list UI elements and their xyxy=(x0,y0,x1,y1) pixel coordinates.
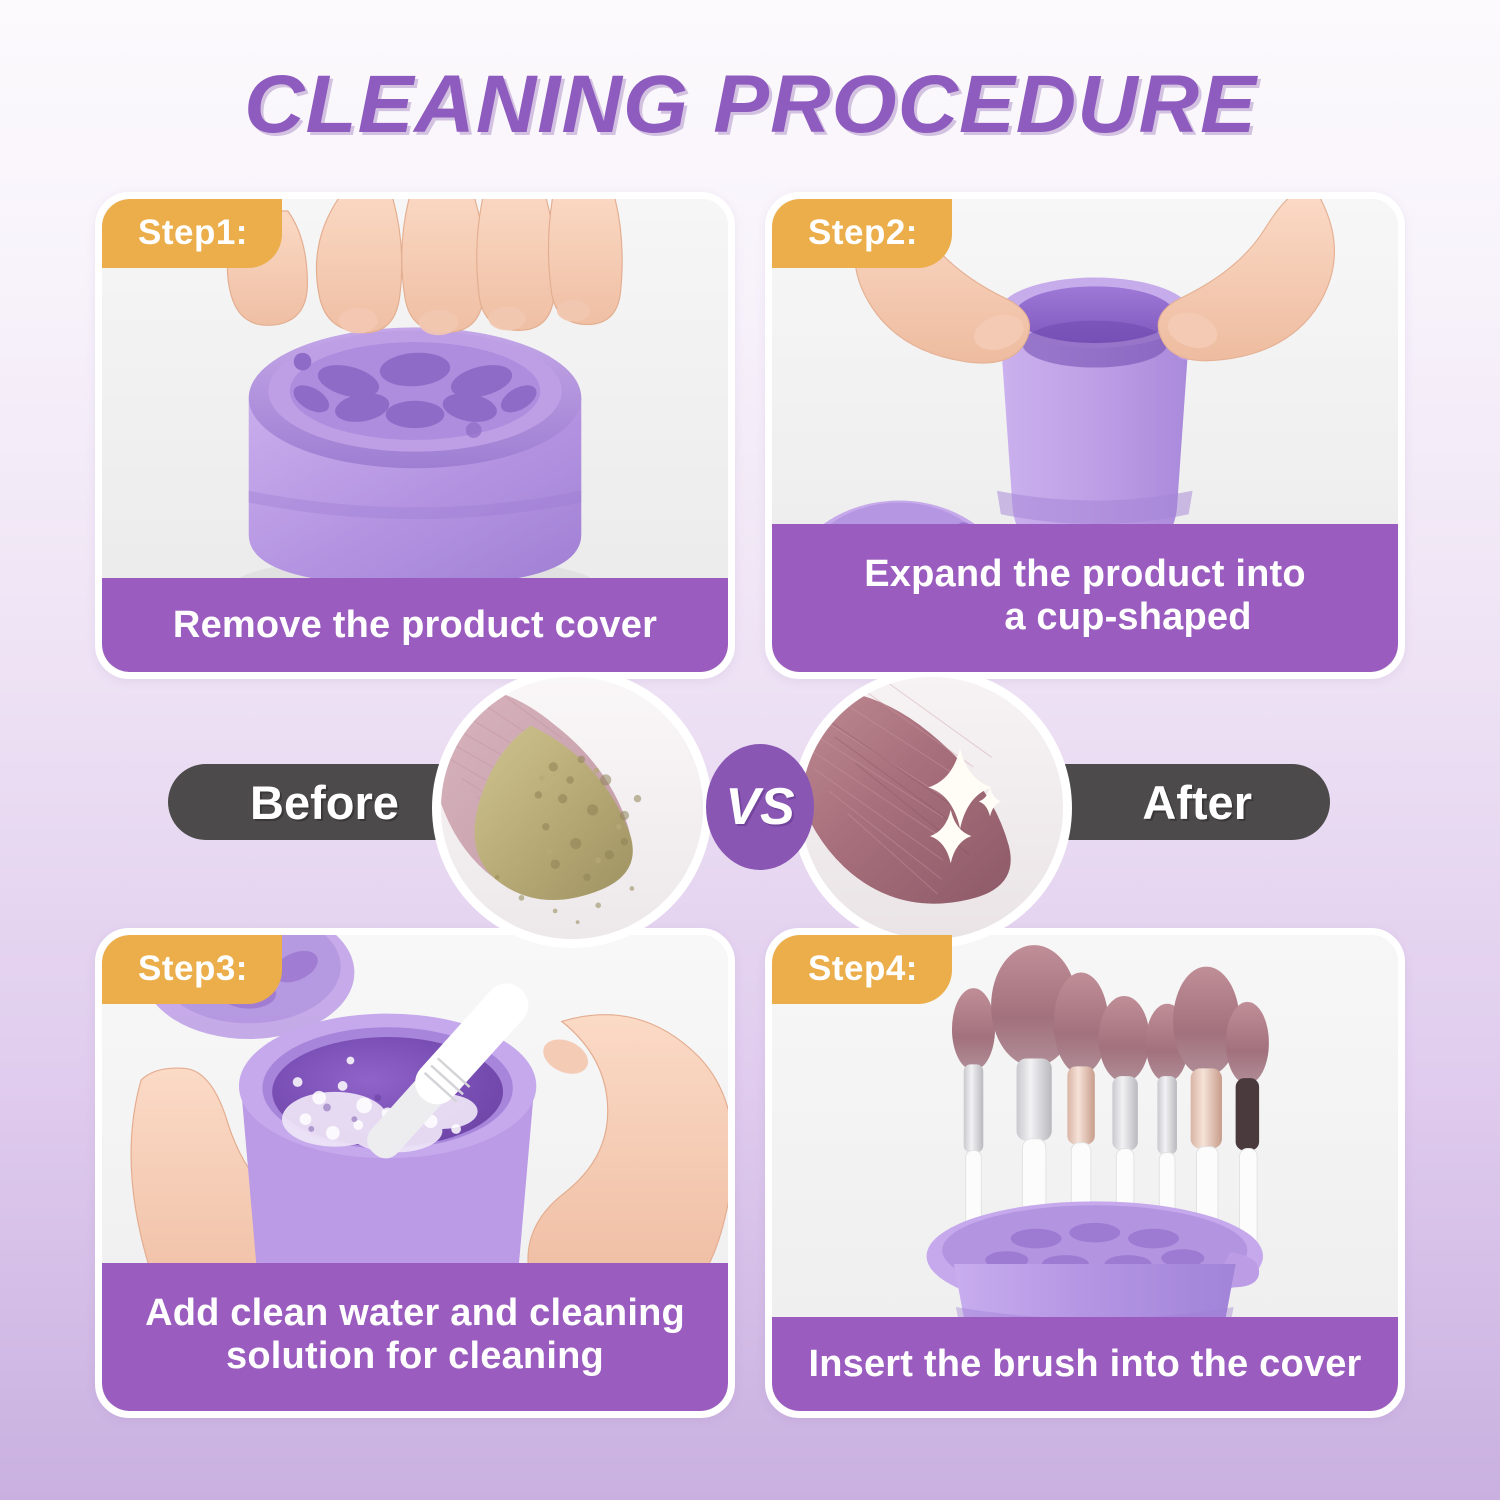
step-3-badge: Step3: xyxy=(102,935,282,1004)
after-illustration xyxy=(801,677,1063,939)
step-4-badge: Step4: xyxy=(772,935,952,1004)
page-title-wrapper: CLEANING PROCEDURE xyxy=(0,58,1500,152)
step-2-badge: Step2: xyxy=(772,199,952,268)
step-4-caption: Insert the brush into the cover xyxy=(772,1317,1398,1411)
page-title: CLEANING PROCEDURE xyxy=(244,58,1257,152)
before-label: Before xyxy=(250,775,399,830)
step-2-caption-line1: Expand the product into xyxy=(864,553,1306,595)
step-2-caption: Expand the product into a cup-shaped xyxy=(772,524,1398,672)
step-card-3: Step3: Add clean water and cleaning solu… xyxy=(95,928,735,1418)
step-1-badge: Step1: xyxy=(102,199,282,268)
step-1-caption: Remove the product cover xyxy=(102,578,728,672)
step-card-1: Step1: Remove the product cover xyxy=(95,192,735,679)
step-4-caption-line1: Insert the brush into the cover xyxy=(808,1343,1361,1386)
step-card-2: Step2: Expand the product into a cup-sha… xyxy=(765,192,1405,679)
before-photo xyxy=(432,668,712,948)
after-photo xyxy=(792,668,1072,948)
step-3-caption-line1: Add clean water and cleaning xyxy=(145,1292,685,1334)
step-2-caption-line2: a cup-shaped xyxy=(864,596,1306,639)
before-illustration xyxy=(441,677,703,939)
step-3-caption-line2: solution for cleaning xyxy=(145,1335,685,1378)
vs-label: VS xyxy=(725,777,794,837)
vs-badge: VS xyxy=(706,744,814,870)
step-1-caption-line1: Remove the product cover xyxy=(173,604,657,647)
step-3-caption: Add clean water and cleaning solution fo… xyxy=(102,1263,728,1411)
after-label: After xyxy=(1142,775,1252,830)
step-card-4: Step4: Insert the brush into the cover xyxy=(765,928,1405,1418)
